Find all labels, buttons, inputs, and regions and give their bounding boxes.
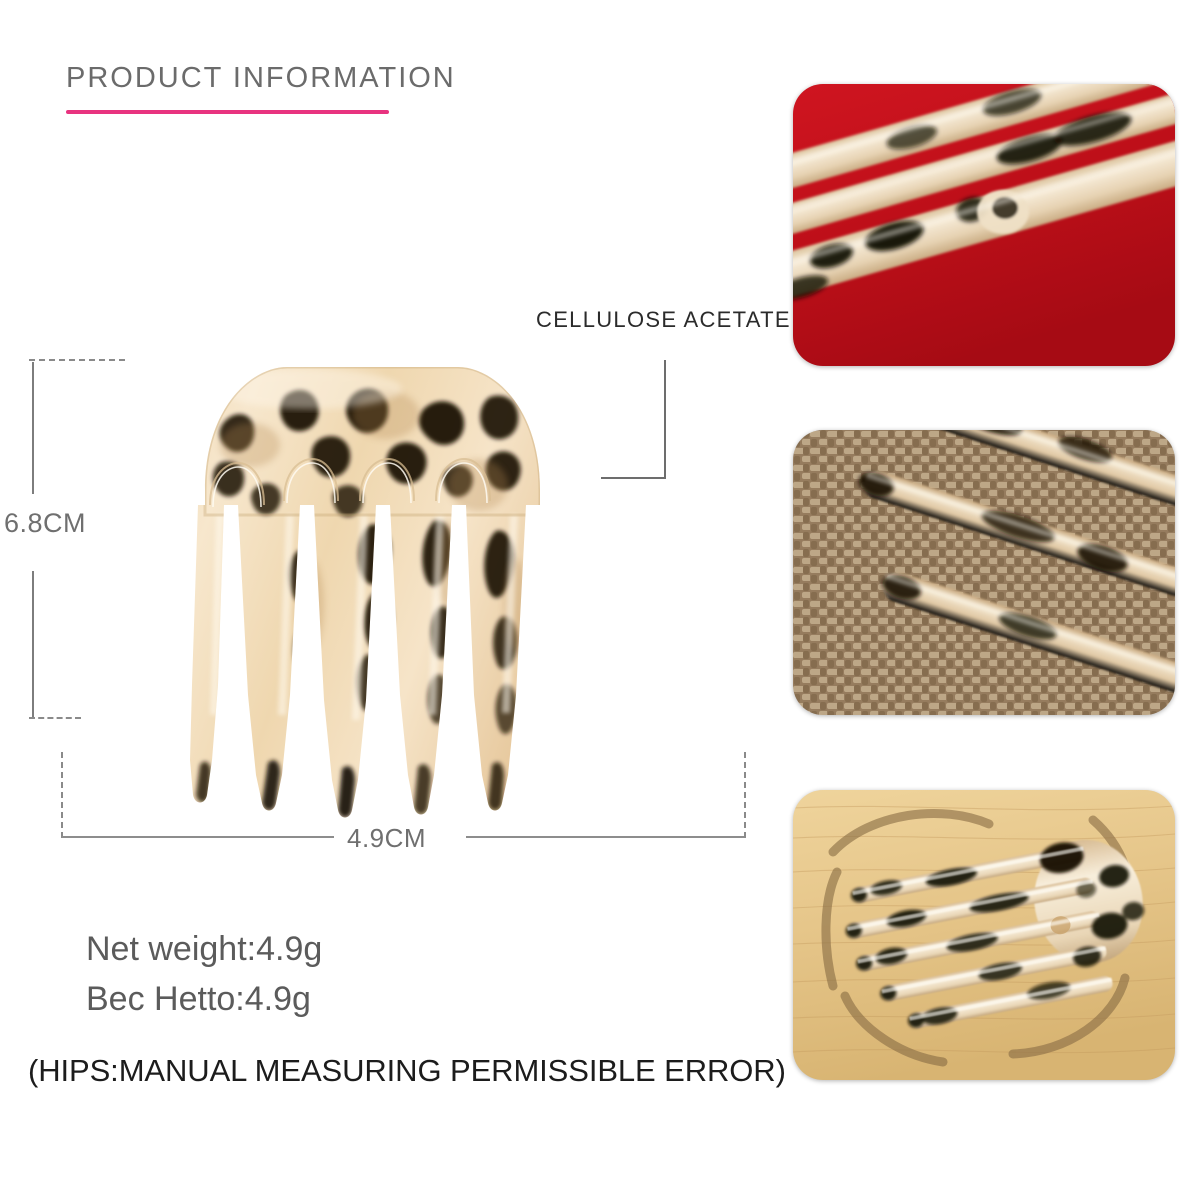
net-weight-text: Net weight:4.9g — [86, 930, 322, 969]
callout-leader-line-horizontal — [601, 477, 666, 479]
width-dimension-line-right — [466, 836, 745, 838]
width-dimension-tick-right — [744, 752, 746, 838]
bec-hetto-text: Bec Hetto:4.9g — [86, 980, 311, 1019]
height-dimension-tick-top — [29, 359, 125, 361]
width-dimension-tick-left — [61, 752, 63, 838]
height-dimension-label: 6.8CM — [4, 508, 86, 539]
width-dimension-line-left — [62, 836, 334, 838]
thumb-comb-on-wood[interactable] — [793, 790, 1175, 1080]
callout-leader-line-vertical — [664, 360, 666, 479]
title-underline-rule — [66, 110, 389, 114]
page-title: PRODUCT INFORMATION — [66, 62, 456, 95]
measurement-error-footnote: (HIPS:MANUAL MEASURING PERMISSIBLE ERROR… — [28, 1053, 786, 1089]
thumb-comb-on-burlap[interactable] — [793, 430, 1175, 715]
material-callout-label: CELLULOSE ACETATE — [536, 307, 791, 333]
height-dimension-line-lower — [32, 571, 34, 718]
thumb-comb-on-red-background[interactable] — [793, 84, 1175, 366]
height-dimension-line-upper — [32, 362, 34, 494]
product-information-page: PRODUCT INFORMATION CELLULOSE ACETATE 6.… — [0, 0, 1200, 1200]
product-main-image — [190, 355, 580, 825]
height-dimension-tick-bottom — [29, 717, 81, 719]
hair-comb-illustration — [190, 355, 580, 825]
width-dimension-label: 4.9CM — [347, 823, 426, 854]
